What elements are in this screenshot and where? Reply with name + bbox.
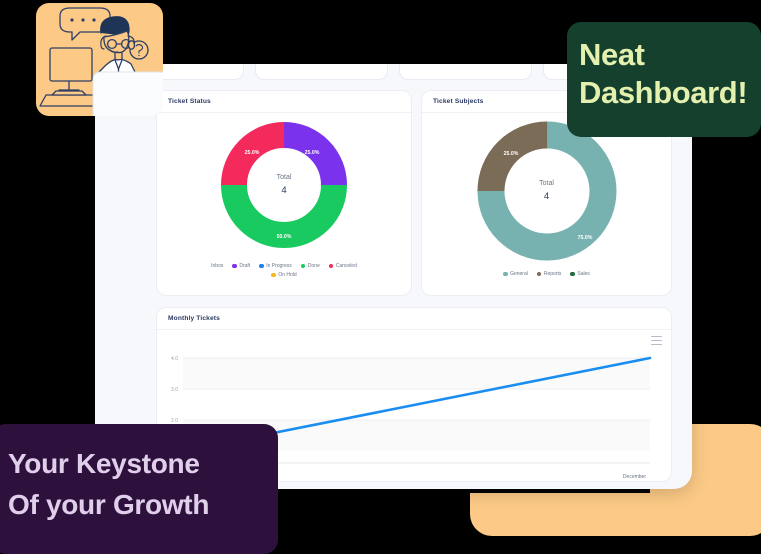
legend-item-sales[interactable]: Sales — [570, 271, 590, 277]
legend-dot-icon — [271, 273, 276, 278]
legend-dot-icon — [329, 264, 334, 269]
donut-svg: 25.0% 75.0% — [475, 119, 619, 271]
card-title: Ticket Subjects — [433, 98, 484, 105]
slice-label-general: 75.0% — [577, 235, 592, 241]
y-tick-label: 4.0 — [171, 356, 178, 362]
legend-label: On Hold — [278, 272, 296, 278]
legend-label: Reports — [544, 271, 562, 277]
badge-line-1: Your Keystone — [8, 443, 278, 484]
legend-dot-icon — [570, 272, 575, 277]
legend-item-general[interactable]: General — [503, 271, 528, 277]
badge-line-2: Dashboard! — [579, 74, 761, 112]
legend-item-draft[interactable]: Draft — [232, 263, 250, 269]
legend-label: Sales — [577, 271, 590, 277]
promo-graphic: Ticket Status 25.0% 50.0% 25.0% — [0, 0, 761, 554]
legend-label: General — [510, 271, 528, 277]
illustration-svg — [36, 3, 163, 116]
badge-line-1: Neat — [579, 36, 761, 74]
stat-card[interactable] — [399, 64, 532, 80]
y-tick-label: 3.0 — [171, 387, 178, 393]
legend-dot-icon — [232, 264, 237, 269]
legend-dot-icon — [259, 264, 264, 269]
legend-dot-icon — [503, 272, 508, 277]
legend-item-on-hold[interactable]: On Hold — [171, 272, 397, 278]
ticket-subjects-legend: General Reports Sales — [422, 271, 671, 283]
legend-item-done[interactable]: Done — [301, 263, 320, 269]
legend-item-inbox[interactable]: Inbox — [211, 263, 223, 269]
card-header: Monthly Tickets — [157, 308, 671, 330]
ticket-status-card: Ticket Status 25.0% 50.0% 25.0% — [156, 90, 412, 296]
slice-label-canceled: 25.0% — [245, 150, 260, 156]
legend-item-canceled[interactable]: Canceled — [329, 263, 357, 269]
legend-label: Draft — [239, 263, 250, 269]
legend-label: Canceled — [336, 263, 357, 269]
card-body: 25.0% 75.0% Total 4 General Re — [422, 113, 671, 283]
donut-svg: 25.0% 50.0% 25.0% — [219, 119, 349, 259]
neat-dashboard-badge: Neat Dashboard! — [567, 22, 761, 137]
legend-label: In Progress — [266, 263, 292, 269]
slice-label-reports: 25.0% — [503, 151, 518, 157]
legend-item-reports[interactable]: Reports — [537, 271, 562, 277]
slice-label-draft: 25.0% — [305, 150, 320, 156]
legend-dot-icon — [537, 272, 542, 277]
support-agent-illustration — [36, 3, 163, 116]
badge-line-2: Of your Growth — [8, 484, 278, 525]
legend-dot-icon — [301, 264, 306, 269]
ticket-status-donut[interactable]: 25.0% 50.0% 25.0% Total 4 — [157, 113, 411, 263]
card-title: Monthly Tickets — [168, 315, 220, 322]
slice-label-done: 50.0% — [277, 234, 292, 240]
stat-card[interactable] — [255, 64, 388, 80]
ticket-status-legend: Inbox Draft In Progress Done — [157, 263, 411, 284]
card-title: Ticket Status — [168, 98, 211, 105]
x-tick-label: December — [623, 474, 646, 480]
card-header: Ticket Status — [157, 91, 411, 113]
legend-label: Inbox — [211, 263, 223, 269]
legend-label: Done — [308, 263, 320, 269]
keystone-growth-badge: Your Keystone Of your Growth — [0, 424, 278, 554]
legend-item-in-progress[interactable]: In Progress — [259, 263, 292, 269]
card-body: 25.0% 50.0% 25.0% Total 4 Inbox — [157, 113, 411, 284]
